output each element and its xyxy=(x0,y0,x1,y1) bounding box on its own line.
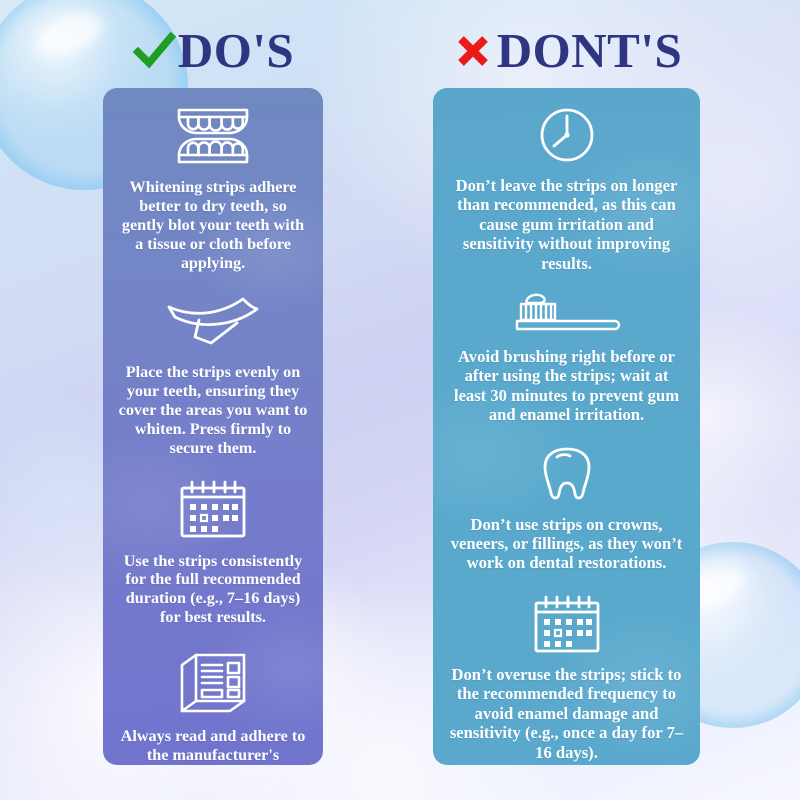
toothbrush-icon xyxy=(511,291,623,335)
tooth-icon xyxy=(539,443,595,505)
donts-header: DONT'S xyxy=(433,26,700,75)
donts-item-4-text: Don’t overuse the strips; stick to the r… xyxy=(447,665,686,762)
dos-panel: Whitening strips adhere better to dry te… xyxy=(103,88,323,765)
red-cross-icon xyxy=(451,29,495,73)
calendar-icon xyxy=(530,593,604,655)
donts-item-2-text: Avoid brushing right before or after usi… xyxy=(447,347,686,425)
dos-item-3-text: Use the strips consistently for the full… xyxy=(117,552,309,628)
donts-item-3: Don’t use strips on crowns, veneers, or … xyxy=(447,443,686,573)
calendar-icon xyxy=(176,478,250,540)
donts-item-4: Don’t overuse the strips; stick to the r… xyxy=(447,593,686,762)
green-check-icon xyxy=(132,29,176,73)
teeth-icon xyxy=(169,104,257,168)
clock-icon xyxy=(536,104,598,166)
dos-item-1-text: Whitening strips adhere better to dry te… xyxy=(117,178,309,273)
whitening-strip-icon xyxy=(163,293,263,349)
dos-item-4: Always read and adhere to the manufactur… xyxy=(117,649,309,765)
dos-item-1: Whitening strips adhere better to dry te… xyxy=(117,104,309,273)
donts-item-1: Don’t leave the strips on longer than re… xyxy=(447,104,686,273)
donts-item-2: Avoid brushing right before or after usi… xyxy=(447,291,686,425)
dos-item-4-text: Always read and adhere to the manufactur… xyxy=(117,727,309,765)
product-box-icon xyxy=(174,649,252,715)
dos-title: DO'S xyxy=(178,26,294,75)
dos-item-2: Place the strips evenly on your teeth, e… xyxy=(117,293,309,458)
donts-title: DONT'S xyxy=(497,26,682,75)
donts-panel: Don’t leave the strips on longer than re… xyxy=(433,88,700,765)
dos-item-2-text: Place the strips evenly on your teeth, e… xyxy=(117,363,309,458)
dos-header: DO'S xyxy=(103,26,323,75)
donts-item-1-text: Don’t leave the strips on longer than re… xyxy=(447,176,686,273)
dos-item-3: Use the strips consistently for the full… xyxy=(117,478,309,628)
donts-item-3-text: Don’t use strips on crowns, veneers, or … xyxy=(447,515,686,573)
